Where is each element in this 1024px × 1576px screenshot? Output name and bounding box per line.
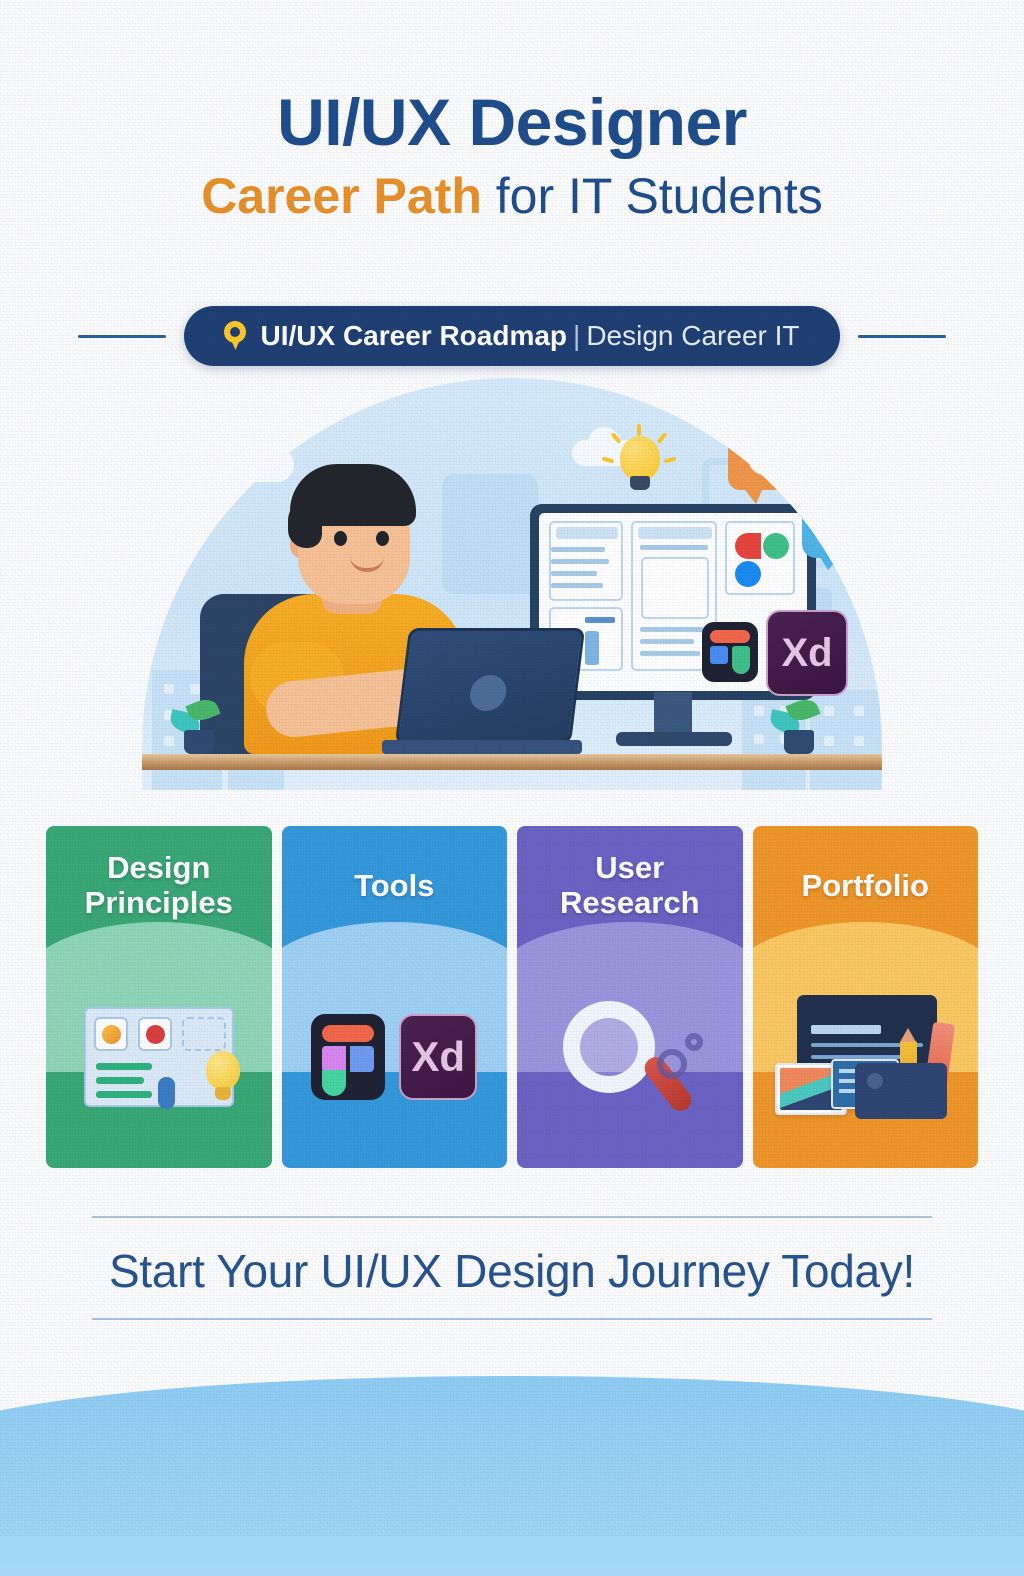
card-design-principles[interactable]: Design Principles: [46, 826, 272, 1168]
adobe-xd-icon: Xd: [766, 610, 848, 696]
banner-text-light: Design Career IT: [586, 320, 799, 351]
figma-icon: [702, 622, 758, 682]
card-header: Tools: [282, 826, 508, 946]
card-header: Design Principles: [46, 826, 272, 946]
card-title: Tools: [354, 869, 434, 904]
laptop: [388, 630, 578, 754]
card-portfolio[interactable]: Portfolio: [753, 826, 979, 1168]
portfolio-case: [855, 1063, 947, 1119]
banner-text: UI/UX Career Roadmap|Design Career IT: [260, 320, 799, 352]
banner-row: UI/UX Career Roadmap|Design Career IT: [0, 306, 1024, 366]
card-tools[interactable]: Tools Xd: [282, 826, 508, 1168]
adobe-xd-icon: Xd: [399, 1014, 477, 1100]
roadmap-banner[interactable]: UI/UX Career Roadmap|Design Career IT: [184, 306, 839, 366]
magnifier-icon: [555, 997, 705, 1117]
poster-page: UI/UX Designer Career Path for IT Studen…: [0, 0, 1024, 1536]
banner-rule-left: [78, 335, 166, 338]
card-title: User Research: [525, 851, 735, 920]
category-cards: Design Principles Tools: [46, 826, 978, 1168]
card-art-portfolio: [753, 946, 979, 1168]
card-art-tools: Xd: [282, 946, 508, 1168]
card-art-user-research: [517, 946, 743, 1168]
card-art-design-mockup: [46, 946, 272, 1168]
banner-separator: |: [573, 320, 580, 351]
title-accent-text: Career Path: [201, 168, 482, 224]
banner-text-bold: UI/UX Career Roadmap: [260, 320, 567, 351]
bottom-decorative-band: [0, 1376, 1024, 1576]
speech-bubble-icon: [728, 428, 802, 490]
title-main-line: UI/UX Designer: [0, 88, 1024, 157]
figma-icon: [311, 1014, 385, 1100]
footer-rule-bottom: [92, 1318, 932, 1320]
footer: Start Your UI/UX Design Journey Today!: [0, 1216, 1024, 1320]
card-user-research[interactable]: User Research: [517, 826, 743, 1168]
chat-bubble-icon: [802, 504, 880, 558]
title-rest-text: for IT Students: [482, 168, 823, 224]
footer-cta-text: Start Your UI/UX Design Journey Today!: [0, 1218, 1024, 1318]
page-title: UI/UX Designer Career Path for IT Studen…: [0, 88, 1024, 224]
banner-rule-right: [858, 335, 946, 338]
card-header: Portfolio: [753, 826, 979, 946]
card-header: User Research: [517, 826, 743, 946]
plant-icon: [174, 698, 222, 754]
hero-illustration: Xd: [142, 378, 882, 790]
card-title: Design Principles: [54, 851, 264, 920]
title-sub-line: Career Path for IT Students: [0, 169, 1024, 224]
card-title: Portfolio: [802, 869, 929, 904]
lightbulb-icon: [608, 424, 670, 502]
location-pin-icon: [224, 321, 246, 351]
desk-surface: [142, 754, 882, 770]
